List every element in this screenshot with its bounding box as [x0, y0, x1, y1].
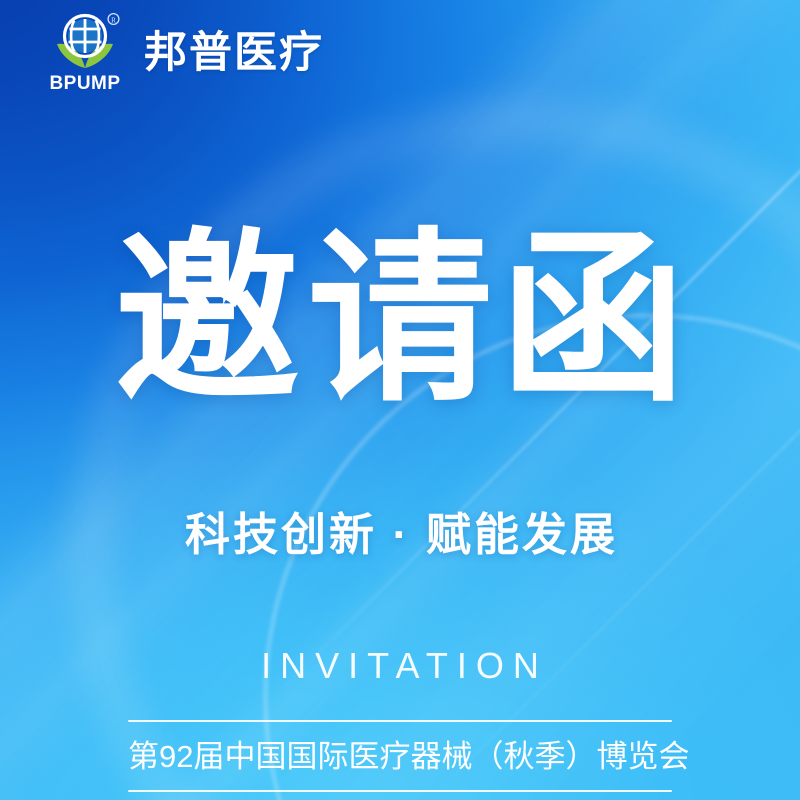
svg-text:R: R — [111, 16, 116, 24]
footer-event-name: 第92届中国国际医疗器械（秋季）博览会 — [128, 722, 672, 790]
brand-name-cn: 邦普医疗 — [144, 32, 324, 75]
footer-rule-bottom — [128, 790, 672, 792]
invitation-poster: R BPUMP 邦普医疗 邀请函 科技创新 · 赋能发展 INVITATION … — [0, 0, 800, 800]
bpump-globe-leaf-logo: R BPUMP — [46, 8, 124, 92]
footer-block: 第92届中国国际医疗器械（秋季）博览会 — [128, 720, 672, 792]
hero-title-en: INVITATION — [0, 648, 800, 684]
logo-wordmark: BPUMP — [46, 73, 124, 95]
brand-lockup: R BPUMP 邦普医疗 — [46, 8, 324, 92]
hero-title-cn: 邀请函 — [0, 228, 800, 413]
hero-subtitle-cn: 科技创新 · 赋能发展 — [0, 512, 800, 557]
